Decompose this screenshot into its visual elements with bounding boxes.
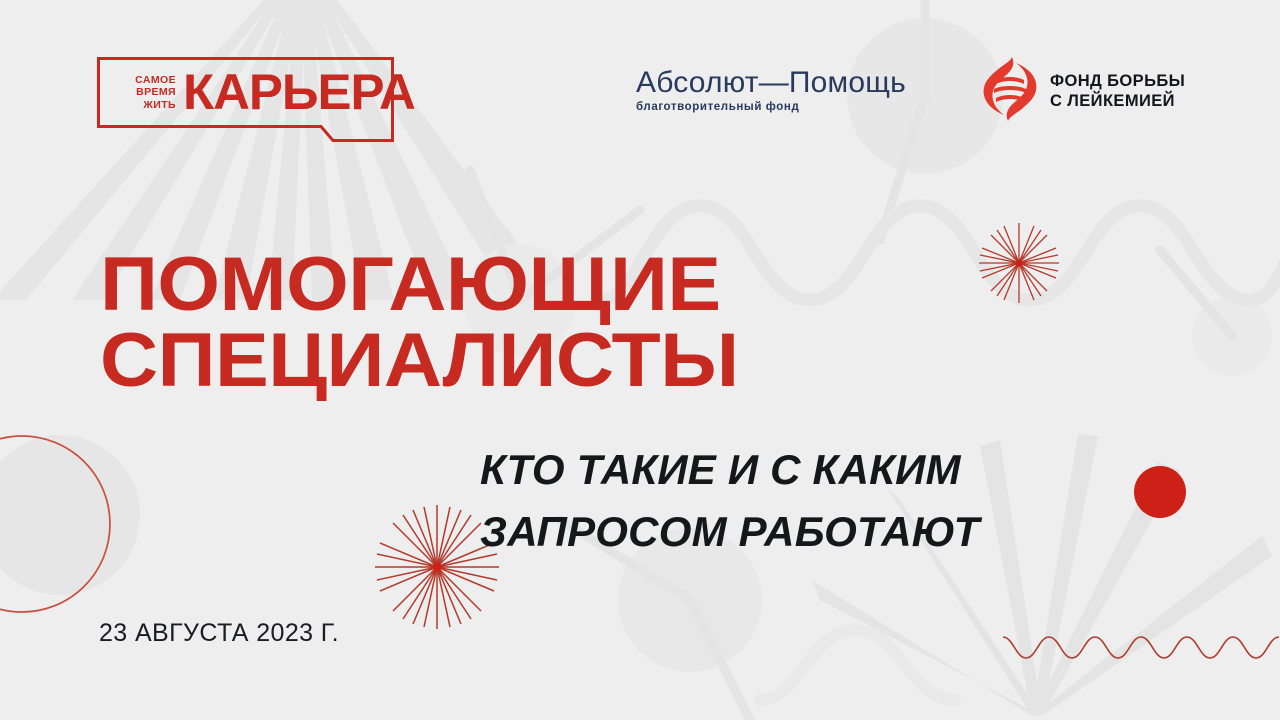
- event-date: 23 АВГУСТА 2023 Г.: [99, 619, 339, 648]
- page-subtitle: КТО ТАКИЕ И С КАКИМ ЗАПРОСОМ РАБОТАЮТ: [480, 439, 1240, 563]
- career-logo[interactable]: САМОЕ ВРЕМЯ ЖИТЬ КАРЬЕРА: [97, 57, 394, 142]
- red-sine-wave: [1003, 637, 1279, 658]
- absolut-logo-title: Абсолют—Помощь: [636, 66, 946, 100]
- logo-row: САМОЕ ВРЕМЯ ЖИТЬ КАРЬЕРА Абсолют—Помощь …: [0, 0, 1280, 160]
- page-subtitle-line-1: КТО ТАКИЕ И С КАКИМ: [480, 439, 1240, 501]
- gray-circle-left: [0, 435, 140, 595]
- page-title: ПОМОГАЮЩИЕ СПЕЦИАЛИСТЫ: [100, 247, 920, 399]
- red-starburst-small: [979, 223, 1059, 303]
- flame-dna-icon: [982, 56, 1038, 122]
- red-circle-outline: [0, 436, 110, 612]
- absolut-pomosch-logo[interactable]: Абсолют—Помощь благотворительный фонд: [636, 66, 946, 126]
- page-title-line-2: СПЕЦИАЛИСТЫ: [100, 323, 969, 399]
- red-starburst-large-core: [433, 563, 442, 572]
- gray-circle-small: [1192, 296, 1272, 376]
- absolut-logo-subtitle: благотворительный фонд: [636, 101, 946, 113]
- page-title-line-1: ПОМОГАЮЩИЕ: [100, 247, 969, 323]
- leukemia-logo-text: ФОНД БОРЬБЫ С ЛЕЙКЕМИЕЙ: [1050, 71, 1185, 111]
- career-logo-wordmark: КАРЬЕРА: [183, 63, 415, 121]
- red-starburst-small-core: [1016, 260, 1023, 267]
- page-subtitle-line-2: ЗАПРОСОМ РАБОТАЮТ: [480, 501, 1240, 563]
- gray-sine-wave-lower: [760, 630, 955, 700]
- leukemia-foundation-logo[interactable]: ФОНД БОРЬБЫ С ЛЕЙКЕМИЕЙ: [982, 56, 1202, 126]
- presentation-slide: САМОЕ ВРЕМЯ ЖИТЬ КАРЬЕРА Абсолют—Помощь …: [0, 0, 1280, 720]
- career-logo-tagline: САМОЕ ВРЕМЯ ЖИТЬ: [114, 74, 176, 111]
